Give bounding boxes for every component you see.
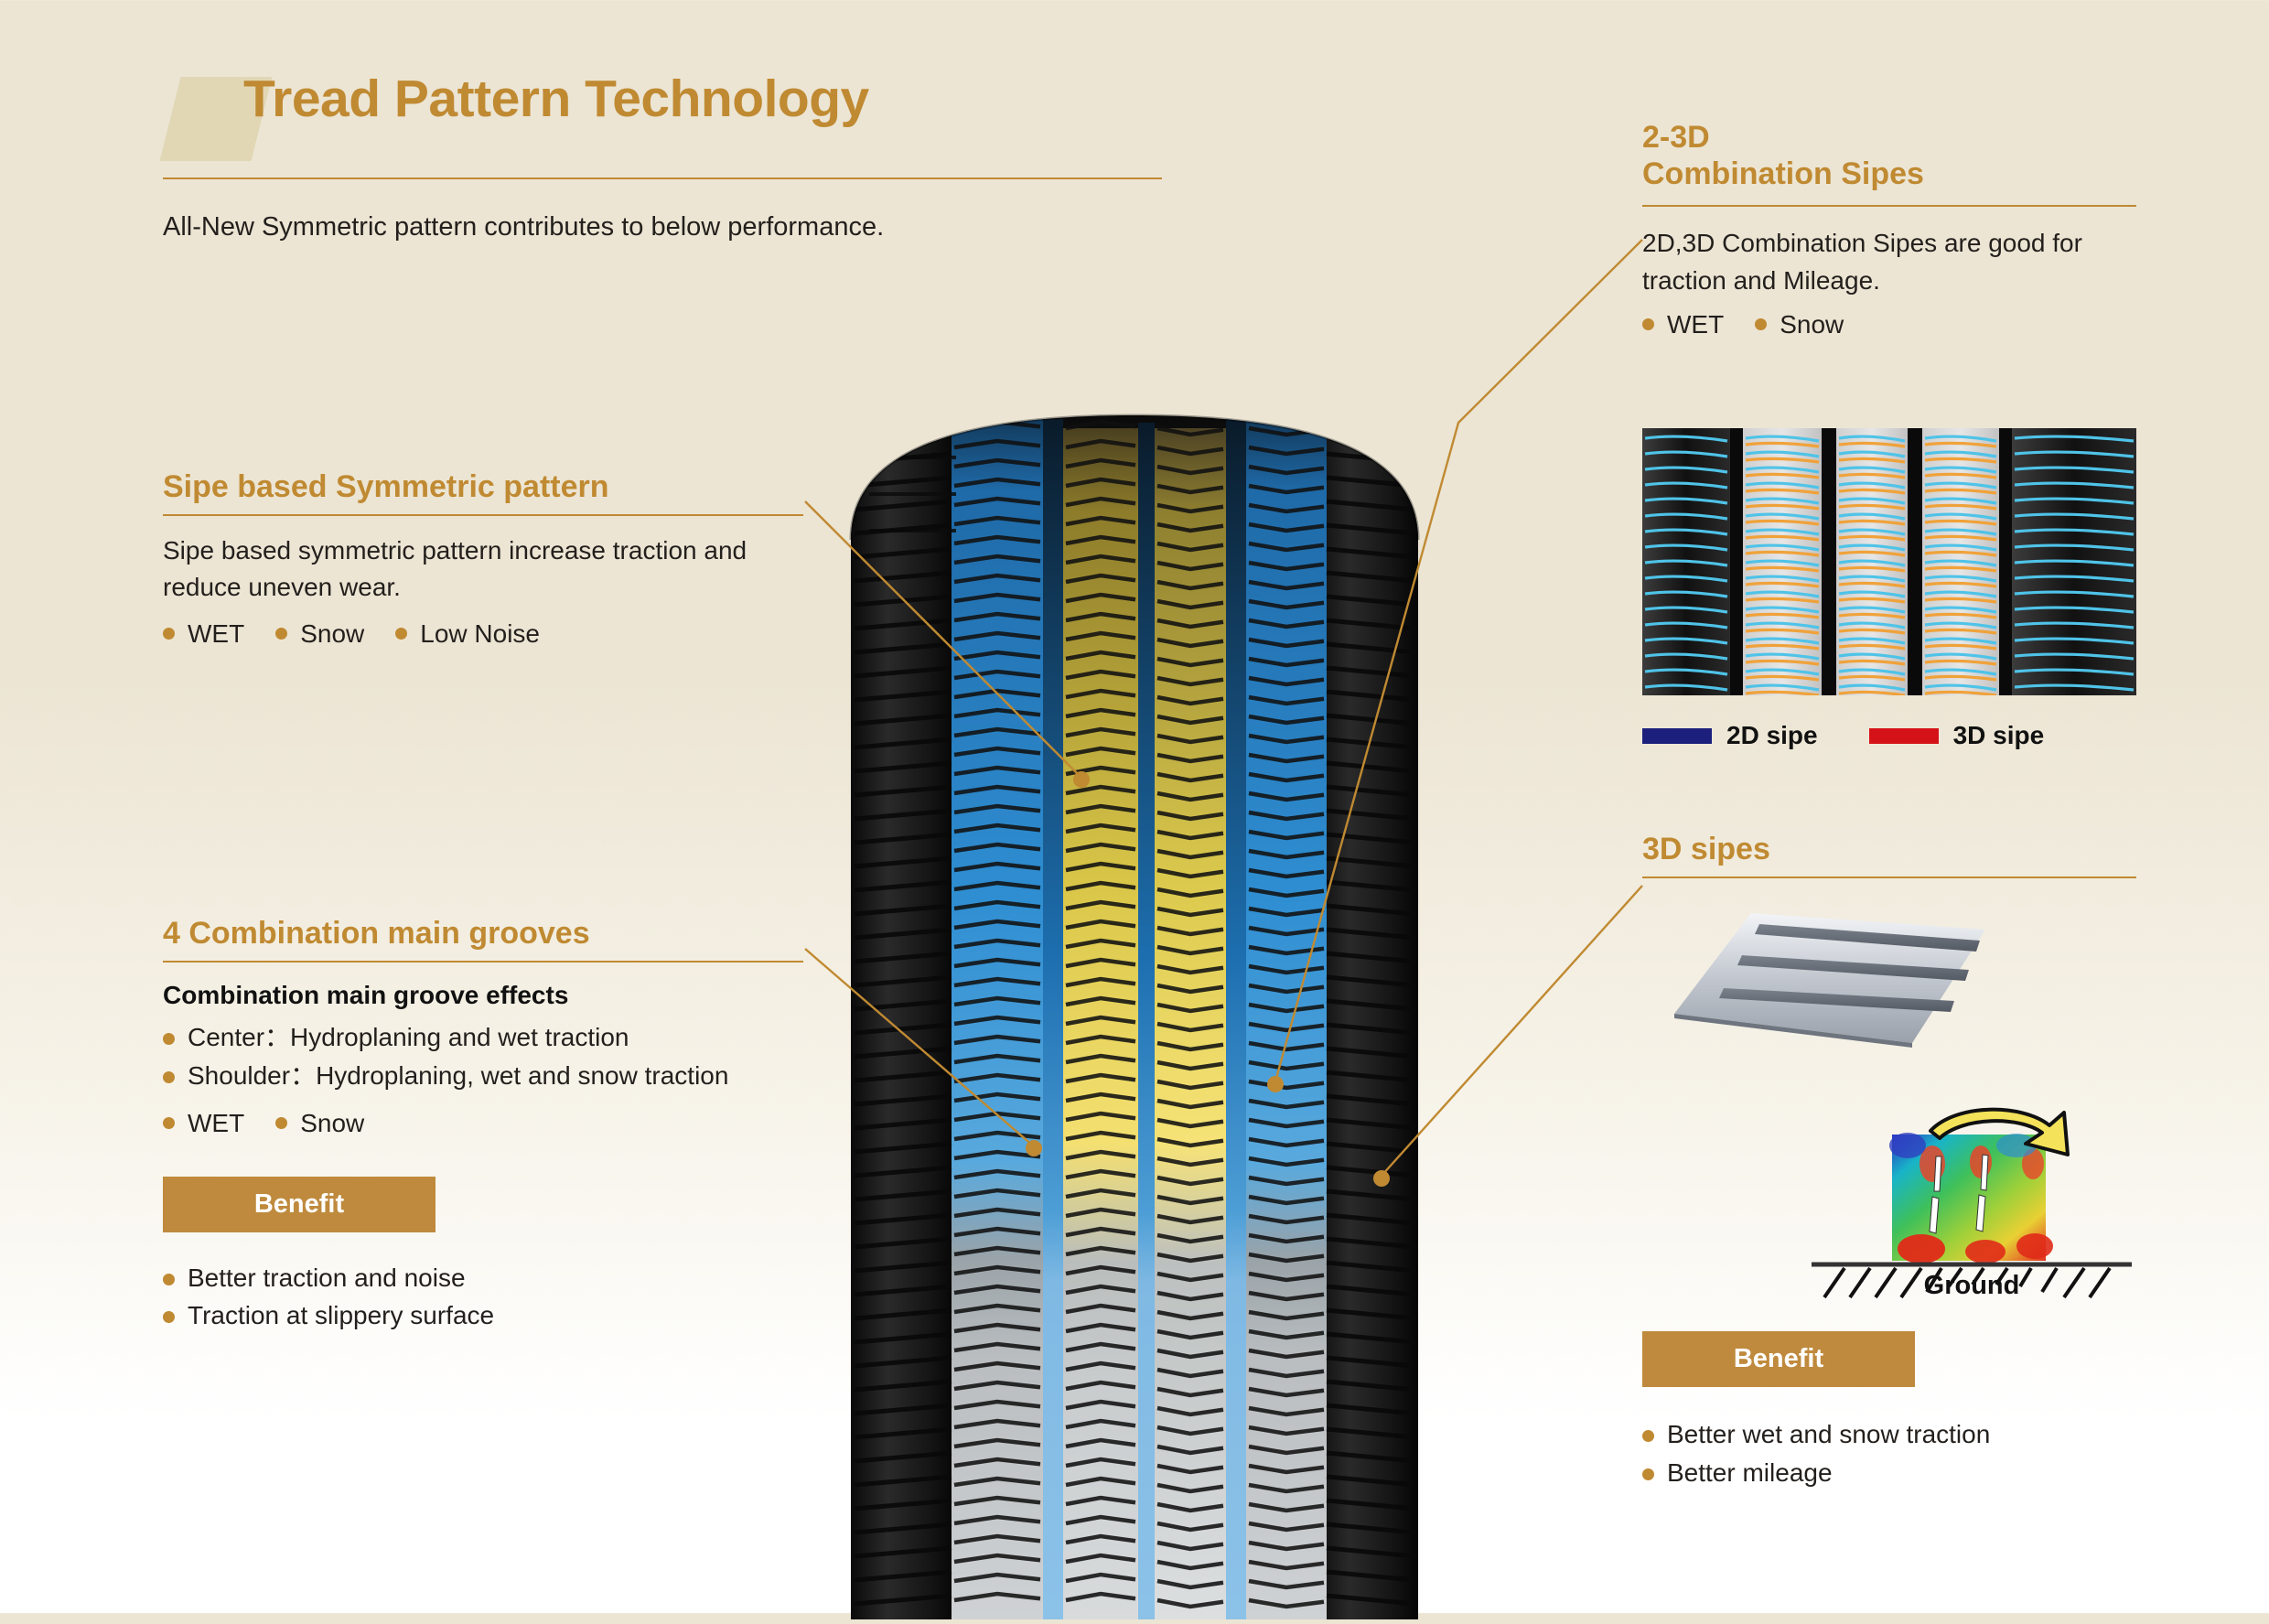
section-heading-line1: 2-3D	[1642, 119, 2136, 156]
list-item: Traction at slippery surface	[163, 1297, 803, 1334]
tag-label: Low Noise	[420, 619, 540, 649]
legend-item-2d-sipe: 2D sipe	[1642, 721, 1818, 750]
section-heading-line2: Combination Sipes	[1642, 156, 2136, 192]
list-item-label: Shoulder：Hydroplaning, wet and snow trac…	[188, 1058, 728, 1094]
performance-tags: WET Snow	[1642, 310, 2136, 339]
section-combination-sipes: 2-3D Combination Sipes 2D,3D Combination…	[1642, 119, 2136, 339]
tire-tread-illustration	[814, 403, 1455, 1619]
tag-wet: WET	[1642, 310, 1724, 339]
list-item-label: Center：Hydroplaning and wet traction	[188, 1019, 629, 1056]
tag-label: WET	[1667, 310, 1724, 339]
tag-label: WET	[188, 1109, 244, 1138]
list-item: Better traction and noise	[163, 1260, 803, 1296]
header-subtitle: All-New Symmetric pattern contributes to…	[163, 212, 884, 242]
ground-svg: Ground	[1793, 1098, 2150, 1308]
section-sipe-based-symmetric-pattern: Sipe based Symmetric pattern Sipe based …	[163, 468, 803, 649]
section-divider	[163, 514, 803, 516]
section-heading: 2-3D Combination Sipes	[1642, 119, 2136, 192]
section-heading: Sipe based Symmetric pattern	[163, 468, 803, 505]
bullet-dot-icon	[163, 628, 175, 640]
tread-ribs	[814, 403, 1455, 1619]
tag-label: Snow	[300, 619, 364, 649]
tire-svg	[814, 403, 1455, 1619]
list-item-label: Traction at slippery surface	[188, 1297, 494, 1334]
section-divider	[1642, 205, 2136, 207]
section-divider	[1642, 877, 2136, 878]
tag-wet: WET	[163, 1109, 244, 1138]
bullet-dot-icon	[163, 1033, 175, 1045]
list-item-label: Better traction and noise	[188, 1260, 466, 1296]
benefit-list: Better wet and snow traction Better mile…	[1642, 1416, 2155, 1491]
legend-swatch-2d	[1642, 728, 1712, 744]
bullet-dot-icon	[163, 1274, 175, 1285]
performance-tags: WET Snow	[163, 1109, 803, 1138]
bullet-dot-icon	[163, 1117, 175, 1129]
benefit-badge: Benefit	[1642, 1331, 1915, 1387]
bullet-dot-icon	[1642, 1430, 1654, 1442]
legend-label: 2D sipe	[1726, 721, 1818, 750]
3d-sipe-blade-image	[1667, 906, 1992, 1048]
legend-item-3d-sipe: 3D sipe	[1869, 721, 2045, 750]
contact-patch-figure: Ground	[1793, 1098, 2150, 1308]
ground-label: Ground	[1924, 1271, 2020, 1300]
bullet-dot-icon	[1755, 318, 1767, 330]
groove-effects-list: Center：Hydroplaning and wet traction Sho…	[163, 1019, 803, 1094]
combination-sipes-photo	[1642, 428, 2136, 695]
header-divider	[163, 177, 1162, 179]
tag-low-noise: Low Noise	[395, 619, 540, 649]
page-title: Tread Pattern Technology	[163, 57, 1188, 141]
section-subheading: Combination main groove effects	[163, 981, 803, 1010]
section-heading: 3D sipes	[1642, 831, 2136, 867]
list-item: Center：Hydroplaning and wet traction	[163, 1019, 803, 1056]
benefit-badge: Benefit	[163, 1177, 436, 1232]
benefit-list: Better traction and noise Traction at sl…	[163, 1260, 803, 1335]
section-heading: 4 Combination main grooves	[163, 915, 803, 952]
tag-snow: Snow	[275, 619, 364, 649]
page-header: Tread Pattern Technology All-New Symmetr…	[163, 57, 1188, 141]
section-divider	[163, 961, 803, 963]
list-item-label: Better wet and snow traction	[1667, 1416, 1990, 1453]
section-3d-sipes: 3D sipes	[1642, 831, 2136, 878]
infographic-canvas: Tread Pattern Technology All-New Symmetr…	[0, 0, 2269, 1613]
blade-svg	[1667, 906, 1992, 1048]
bullet-dot-icon	[275, 1117, 287, 1129]
tag-label: Snow	[300, 1109, 364, 1138]
tag-snow: Snow	[1755, 310, 1844, 339]
list-item: Better wet and snow traction	[1642, 1416, 2155, 1453]
section-combination-main-grooves: 4 Combination main grooves Combination m…	[163, 915, 803, 1336]
tag-snow: Snow	[275, 1109, 364, 1138]
section-3d-sipes-benefit: Benefit Better wet and snow traction Bet…	[1642, 1331, 2155, 1493]
bullet-dot-icon	[163, 1311, 175, 1323]
legend-label: 3D sipe	[1953, 721, 2045, 750]
legend-swatch-3d	[1869, 728, 1939, 744]
section-body: Sipe based symmetric pattern increase tr…	[163, 532, 748, 607]
bullet-dot-icon	[1642, 1468, 1654, 1480]
tag-wet: WET	[163, 619, 244, 649]
tread-closeup-svg	[1642, 428, 2136, 695]
performance-tags: WET Snow Low Noise	[163, 619, 803, 649]
sipe-type-legend: 2D sipe 3D sipe	[1642, 721, 2044, 750]
tag-label: Snow	[1780, 310, 1844, 339]
list-item: Better mileage	[1642, 1455, 2155, 1491]
section-body: 2D,3D Combination Sipes are good for tra…	[1642, 225, 2118, 299]
tag-label: WET	[188, 619, 244, 649]
bullet-dot-icon	[1642, 318, 1654, 330]
bullet-dot-icon	[395, 628, 407, 640]
bullet-dot-icon	[275, 628, 287, 640]
list-item: Shoulder：Hydroplaning, wet and snow trac…	[163, 1058, 803, 1094]
list-item-label: Better mileage	[1667, 1455, 1833, 1491]
bullet-dot-icon	[163, 1071, 175, 1083]
